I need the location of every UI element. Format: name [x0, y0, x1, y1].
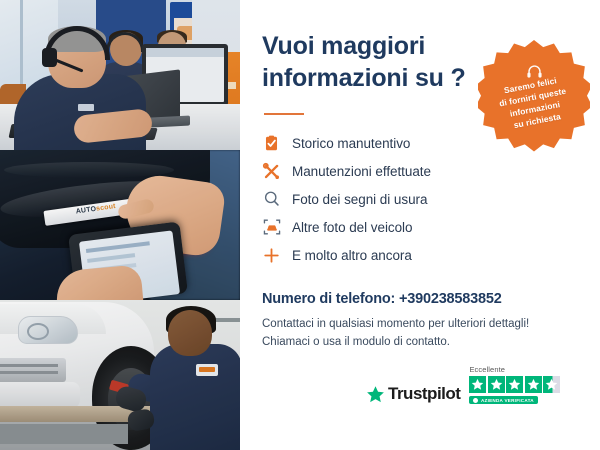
- feature-item-molto-altro: E molto altro ancora: [262, 241, 578, 269]
- feature-list: Storico manutentivo Manutenzioni effettu…: [262, 129, 578, 269]
- car-frame-icon: [262, 218, 281, 237]
- verified-label: AZIENDA VERIFICATA: [481, 398, 534, 403]
- feature-label: Altre foto del veicolo: [292, 220, 412, 235]
- photo-column: AUTOscout: [0, 0, 240, 450]
- body-highlight: [4, 162, 174, 178]
- magnifier-icon: [262, 190, 281, 209]
- page-title-line-2: informazioni su ?: [262, 64, 466, 92]
- mechanic-head: [168, 310, 212, 356]
- crossed-tools-icon: [262, 162, 281, 181]
- page-title: Vuoi maggiori informazioni su ?: [262, 30, 477, 94]
- inspector-hand-lower: [54, 264, 143, 300]
- promo-card: AUTOscout: [0, 0, 600, 450]
- feature-label: Storico manutentivo: [292, 136, 410, 151]
- uniform-logo: [196, 364, 218, 376]
- headset-icon: [526, 64, 543, 79]
- feature-label: Foto dei segni di usura: [292, 192, 427, 207]
- contact-note-line-1: Contattaci in qualsiasi momento per ulte…: [262, 316, 578, 334]
- content-panel: Vuoi maggiori informazioni su ? Storico …: [240, 0, 600, 450]
- plus-icon: [262, 246, 281, 265]
- title-divider: [264, 113, 304, 115]
- trustpilot-widget[interactable]: Trustpilot Eccellente: [366, 365, 560, 404]
- feature-label: E molto altro ancora: [292, 248, 412, 263]
- feature-item-manutenzioni-effettuate: Manutenzioni effettuate: [262, 157, 578, 185]
- agent-name-badge: [78, 104, 94, 111]
- mechanic-torso: [150, 344, 240, 450]
- feature-item-foto-segni-usura: Foto dei segni di usura: [262, 185, 578, 213]
- phone-number: Numero di telefono: +390238583852: [262, 291, 578, 307]
- star-4: [525, 376, 542, 393]
- vehicle-lift-base: [0, 424, 128, 444]
- verified-business-badge: AZIENDA VERIFICATA: [469, 396, 537, 404]
- car-grille: [0, 358, 66, 382]
- verified-check-icon: [473, 398, 478, 403]
- contact-note: Contattaci in qualsiasi momento per ulte…: [262, 316, 578, 352]
- star-rating: [469, 376, 560, 393]
- page-title-line-1: Vuoi maggiori: [262, 32, 425, 60]
- star-3: [506, 376, 523, 393]
- trustpilot-rating: Eccellente: [469, 365, 560, 404]
- trustpilot-name: Trustpilot: [388, 384, 460, 404]
- star-1: [469, 376, 486, 393]
- trustpilot-logo: Trustpilot: [366, 384, 460, 404]
- trustpilot-star-icon: [366, 385, 385, 404]
- call-center-agent-photo: [0, 0, 240, 150]
- feature-label: Manutenzioni effettuate: [292, 164, 431, 179]
- rating-label: Eccellente: [469, 365, 505, 374]
- clipboard-check-icon: [262, 134, 281, 153]
- feature-item-altre-foto-veicolo: Altre foto del veicolo: [262, 213, 578, 241]
- star-2: [488, 376, 505, 393]
- car-headlight: [18, 316, 78, 344]
- badge-text: Saremo felici di fornirti queste informa…: [496, 74, 572, 134]
- vehicle-inspection-photo: AUTOscout: [0, 150, 240, 300]
- strip-logo: AUTOscout: [75, 203, 116, 216]
- agent-headset-earcup: [42, 48, 57, 67]
- star-5-half: [543, 376, 560, 393]
- contact-note-line-2: Chiamaci o usa il modulo di contatto.: [262, 334, 578, 352]
- mechanic-wheel-photo: [0, 300, 240, 450]
- car-bumper: [0, 382, 80, 408]
